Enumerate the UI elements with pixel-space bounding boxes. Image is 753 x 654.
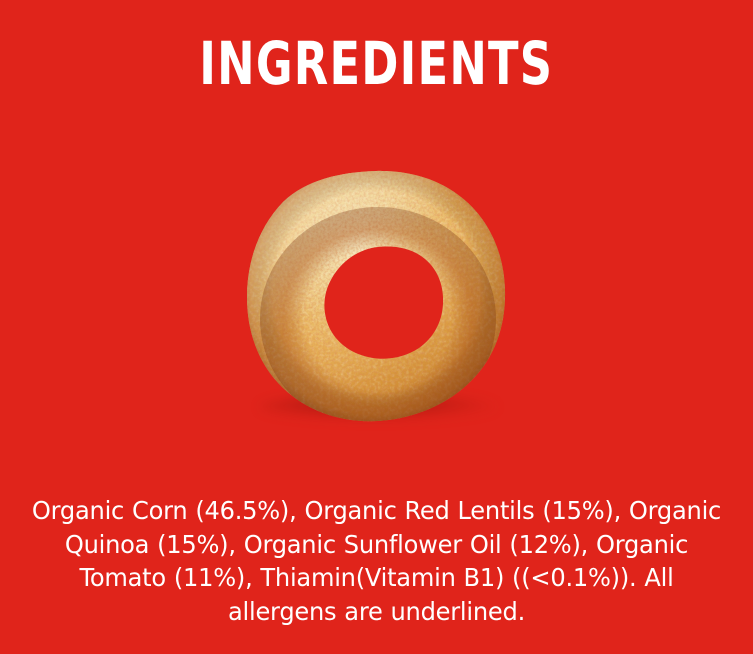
- ingredients-panel: INGREDIENTS: [0, 0, 753, 654]
- page-title: INGREDIENTS: [199, 34, 553, 95]
- snack-ring-icon: [245, 169, 507, 425]
- page-title-container: INGREDIENTS: [0, 34, 753, 92]
- ingredients-block: Organic Corn (46.5%), Organic Red Lentil…: [14, 494, 739, 628]
- product-figure: [237, 163, 517, 433]
- snack-ring-image: [245, 169, 507, 425]
- ingredients-text: Organic Corn (46.5%), Organic Red Lentil…: [27, 494, 727, 628]
